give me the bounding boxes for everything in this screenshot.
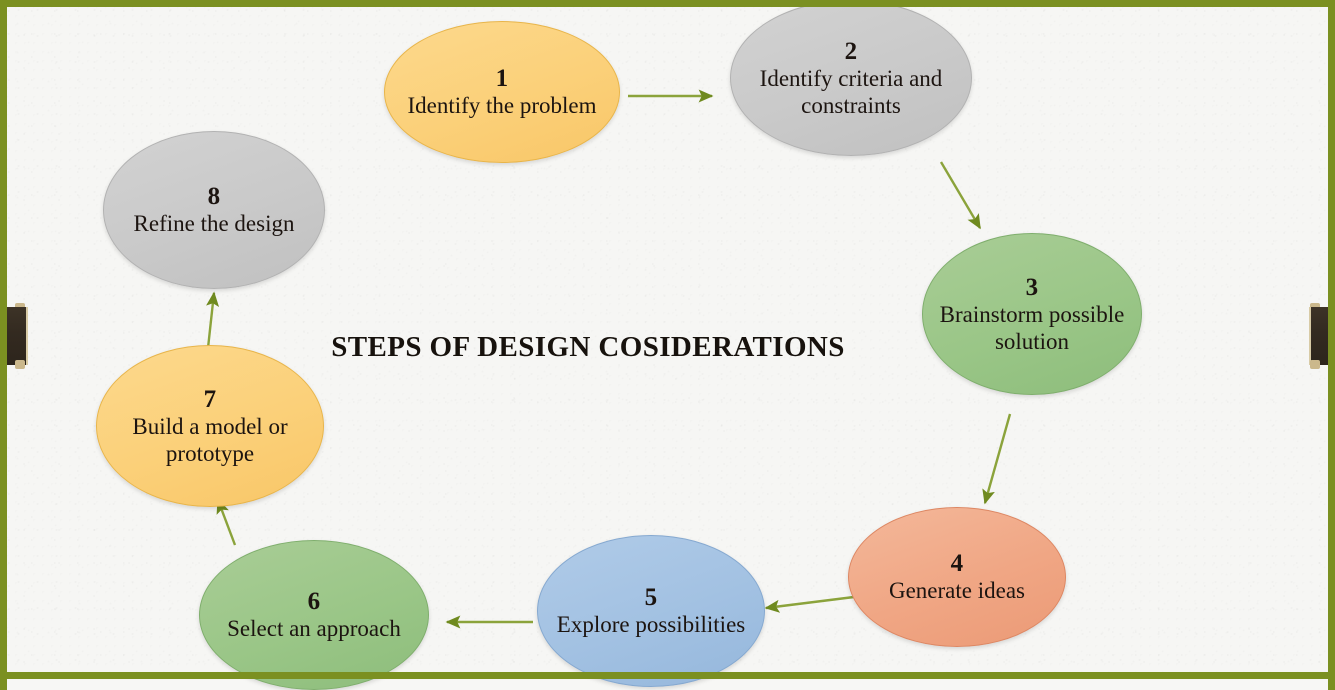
right-clip-cap-bottom bbox=[1310, 360, 1320, 369]
step-node-6[interactable]: 6 Select an approach bbox=[199, 540, 429, 690]
step-label-6: Select an approach bbox=[219, 616, 409, 643]
step-node-4[interactable]: 4 Generate ideas bbox=[848, 507, 1066, 647]
step-number-1: 1 bbox=[496, 64, 509, 93]
step-node-5[interactable]: 5 Explore possibilities bbox=[537, 535, 765, 687]
step-node-7[interactable]: 7 Build a model or prototype bbox=[96, 345, 324, 507]
step-number-8: 8 bbox=[208, 182, 221, 211]
slide-canvas: 1 Identify the problem 2 Identify criter… bbox=[0, 0, 1335, 690]
step-label-2: Identify criteria and constraints bbox=[731, 66, 971, 119]
diagram-title: STEPS OF DESIGN COSIDERATIONS bbox=[303, 331, 873, 364]
step-node-3[interactable]: 3 Brainstorm possible solution bbox=[922, 233, 1142, 395]
step-label-7: Build a model or prototype bbox=[97, 414, 323, 467]
step-label-4: Generate ideas bbox=[881, 578, 1033, 605]
step-label-1: Identify the problem bbox=[399, 93, 604, 120]
step-node-1[interactable]: 1 Identify the problem bbox=[384, 21, 620, 163]
left-clip-body bbox=[0, 307, 28, 365]
step-number-4: 4 bbox=[951, 549, 964, 578]
step-number-7: 7 bbox=[204, 385, 217, 414]
step-label-8: Refine the design bbox=[126, 211, 303, 238]
right-clip-body bbox=[1309, 307, 1335, 365]
step-node-2[interactable]: 2 Identify criteria and constraints bbox=[730, 0, 972, 156]
step-label-3: Brainstorm possible solution bbox=[923, 302, 1141, 355]
step-node-8[interactable]: 8 Refine the design bbox=[103, 131, 325, 289]
step-number-3: 3 bbox=[1026, 273, 1039, 302]
step-number-6: 6 bbox=[308, 587, 321, 616]
slide-border-bottom bbox=[0, 672, 1335, 679]
right-binder-clip bbox=[1309, 303, 1335, 369]
step-label-5: Explore possibilities bbox=[549, 612, 753, 639]
left-binder-clip bbox=[0, 303, 26, 369]
left-clip-cap-bottom bbox=[15, 360, 25, 369]
step-number-2: 2 bbox=[845, 37, 858, 66]
step-number-5: 5 bbox=[645, 583, 658, 612]
